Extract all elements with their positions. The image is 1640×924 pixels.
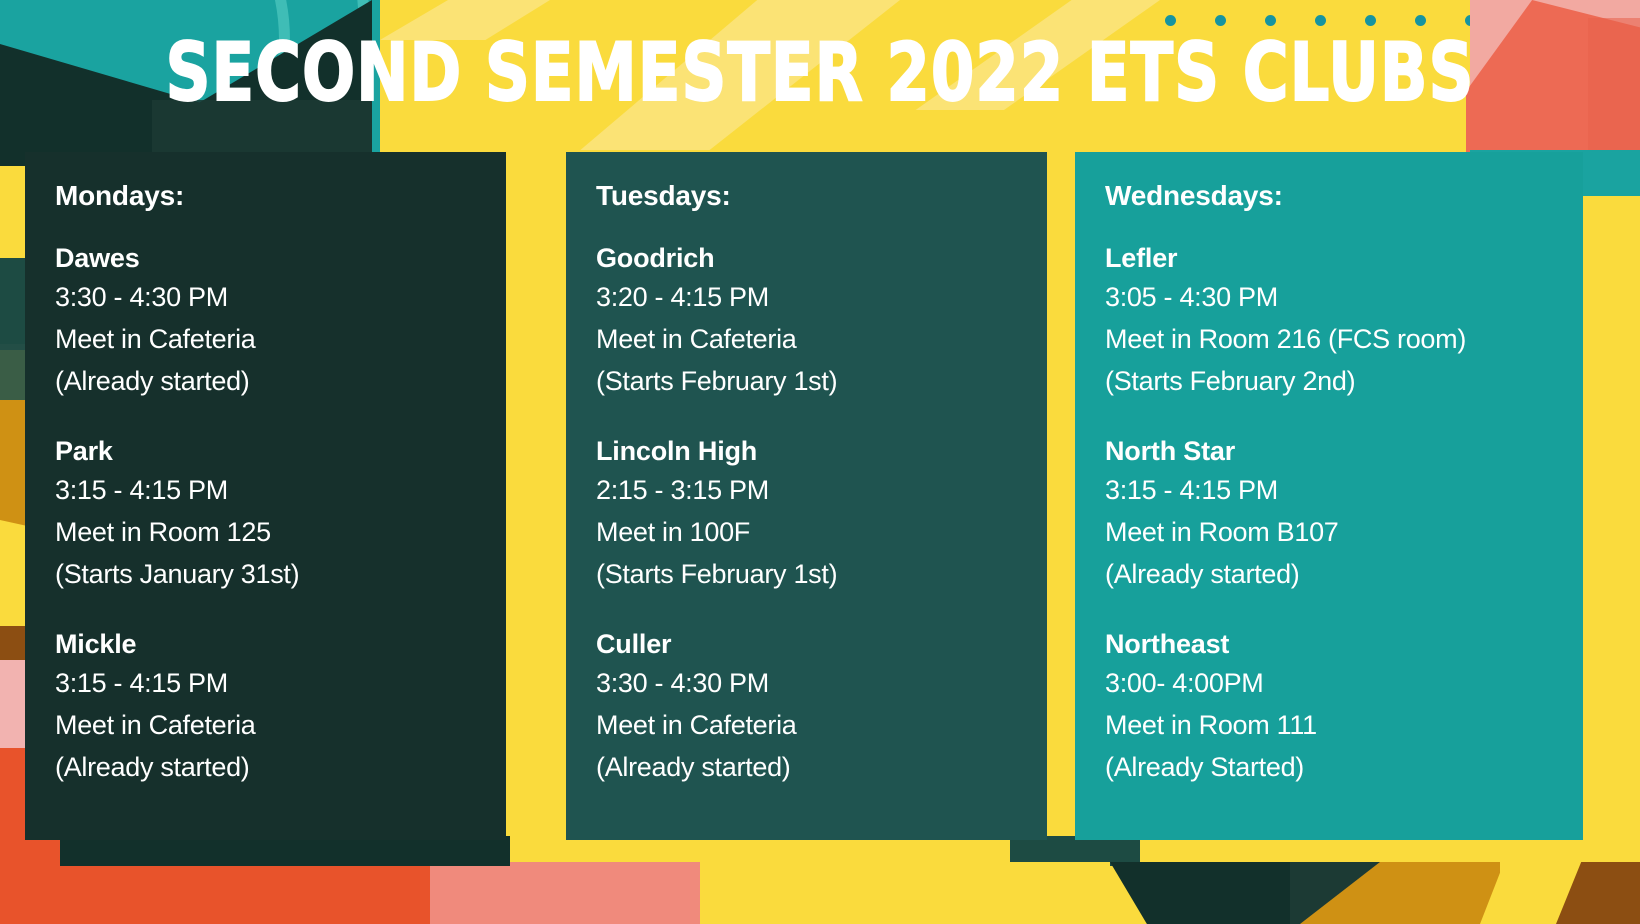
club-time: 3:15 - 4:15 PM <box>55 470 476 512</box>
bottom-band-yellow <box>700 862 1110 924</box>
club-name: Dawes <box>55 240 476 277</box>
club-status: (Already Started) <box>1105 747 1553 789</box>
club-location: Meet in Room 125 <box>55 512 476 554</box>
club-location: Meet in Cafeteria <box>55 319 476 361</box>
club-status: (Already started) <box>1105 554 1553 596</box>
club-status: (Starts February 2nd) <box>1105 361 1553 403</box>
club-time: 3:30 - 4:30 PM <box>55 277 476 319</box>
club-entry: Lefler 3:05 - 4:30 PM Meet in Room 216 (… <box>1105 240 1553 403</box>
club-time: 3:20 - 4:15 PM <box>596 277 1017 319</box>
day-card-mondays: Mondays: Dawes 3:30 - 4:30 PM Meet in Ca… <box>25 152 506 840</box>
club-entry: Mickle 3:15 - 4:15 PM Meet in Cafeteria … <box>55 626 476 789</box>
bottom-cube-dark-face <box>1110 862 1315 924</box>
club-name: Lefler <box>1105 240 1553 277</box>
club-name: Park <box>55 433 476 470</box>
teal-dot <box>1215 15 1226 26</box>
club-status: (Starts February 1st) <box>596 554 1017 596</box>
club-location: Meet in Cafeteria <box>55 705 476 747</box>
teal-dot <box>1315 15 1326 26</box>
club-entry: Northeast 3:00- 4:00PM Meet in Room 111 … <box>1105 626 1553 789</box>
club-status: (Already started) <box>55 747 476 789</box>
club-name: Culler <box>596 626 1017 663</box>
club-time: 3:00- 4:00PM <box>1105 663 1553 705</box>
club-location: Meet in Room 111 <box>1105 705 1553 747</box>
club-location: Meet in Room 216 (FCS room) <box>1105 319 1553 361</box>
club-status: (Already started) <box>55 361 476 403</box>
club-location: Meet in 100F <box>596 512 1017 554</box>
teal-dot <box>1265 15 1276 26</box>
poster-title: SECOND SEMESTER 2022 ETS CLUBS <box>66 34 1575 114</box>
day-heading: Mondays: <box>55 180 476 212</box>
club-entry: North Star 3:15 - 4:15 PM Meet in Room B… <box>1105 433 1553 596</box>
club-name: Goodrich <box>596 240 1017 277</box>
club-name: North Star <box>1105 433 1553 470</box>
club-time: 3:15 - 4:15 PM <box>1105 470 1553 512</box>
club-status: (Already started) <box>596 747 1017 789</box>
teal-dot <box>1365 15 1376 26</box>
bottom-band-coral <box>0 862 430 924</box>
day-cards-container: Mondays: Dawes 3:30 - 4:30 PM Meet in Ca… <box>0 152 1640 840</box>
club-location: Meet in Cafeteria <box>596 705 1017 747</box>
day-card-wednesdays: Wednesdays: Lefler 3:05 - 4:30 PM Meet i… <box>1075 152 1583 840</box>
club-location: Meet in Cafeteria <box>596 319 1017 361</box>
teal-dot <box>1165 15 1176 26</box>
club-name: Northeast <box>1105 626 1553 663</box>
poster-canvas: SECOND SEMESTER 2022 ETS CLUBS Mondays: … <box>0 0 1640 924</box>
teal-dot <box>1415 15 1426 26</box>
club-name: Lincoln High <box>596 433 1017 470</box>
club-time: 2:15 - 3:15 PM <box>596 470 1017 512</box>
club-entry: Park 3:15 - 4:15 PM Meet in Room 125 (St… <box>55 433 476 596</box>
club-status: (Starts February 1st) <box>596 361 1017 403</box>
club-entry: Goodrich 3:20 - 4:15 PM Meet in Cafeteri… <box>596 240 1017 403</box>
day-heading: Tuesdays: <box>596 180 1017 212</box>
club-entry: Lincoln High 2:15 - 3:15 PM Meet in 100F… <box>596 433 1017 596</box>
club-entry: Culler 3:30 - 4:30 PM Meet in Cafeteria … <box>596 626 1017 789</box>
club-time: 3:15 - 4:15 PM <box>55 663 476 705</box>
club-status: (Starts January 31st) <box>55 554 476 596</box>
coral-cube-texture <box>1588 18 1640 152</box>
bottom-left-dark-fill <box>60 836 510 866</box>
club-location: Meet in Room B107 <box>1105 512 1553 554</box>
club-time: 3:30 - 4:30 PM <box>596 663 1017 705</box>
club-name: Mickle <box>55 626 476 663</box>
bottom-band-pink <box>430 862 700 924</box>
club-time: 3:05 - 4:30 PM <box>1105 277 1553 319</box>
day-heading: Wednesdays: <box>1105 180 1553 212</box>
club-entry: Dawes 3:30 - 4:30 PM Meet in Cafeteria (… <box>55 240 476 403</box>
day-card-tuesdays: Tuesdays: Goodrich 3:20 - 4:15 PM Meet i… <box>566 152 1047 840</box>
